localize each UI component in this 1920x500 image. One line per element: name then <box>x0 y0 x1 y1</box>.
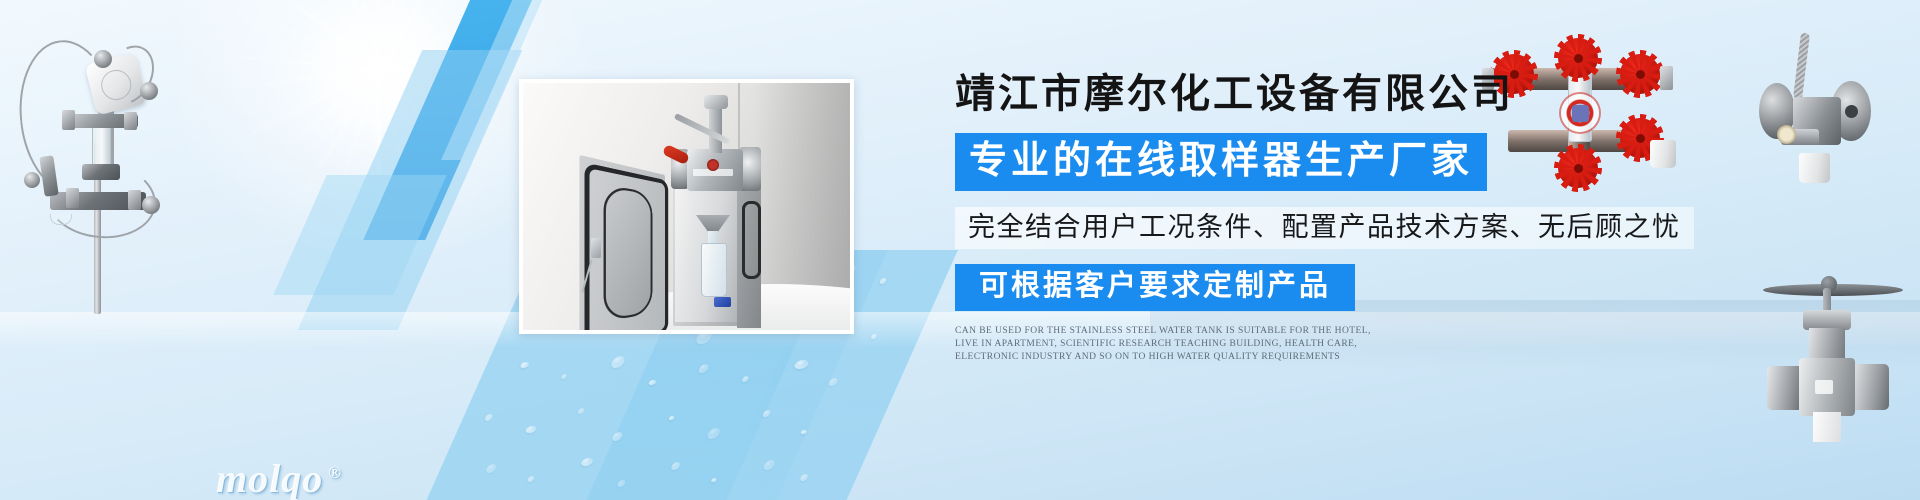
sun-ray <box>380 3 455 72</box>
water-droplet <box>524 426 537 433</box>
water-droplet <box>870 334 877 339</box>
gate-outlet-pipe <box>1813 412 1841 442</box>
company-name: 靖江市摩尔化工设备有限公司 <box>955 74 1715 114</box>
water-droplet <box>706 428 722 439</box>
sun-ray <box>278 68 380 154</box>
sun-ray <box>308 3 381 70</box>
sun-ray <box>378 70 410 196</box>
sampler-flange-c <box>142 196 160 214</box>
diagonal-stripe-soft <box>298 50 523 330</box>
water-droplet <box>560 374 567 379</box>
sun-ray <box>369 70 380 163</box>
product-photo-sampling-cabinet <box>519 79 854 334</box>
sun-ray <box>249 66 380 89</box>
sun-ray <box>380 70 504 100</box>
water-droplet <box>800 430 808 434</box>
sampler-nut-a <box>62 110 75 130</box>
sun-ray <box>243 0 382 70</box>
water-droplet <box>762 460 776 470</box>
sun-ray <box>317 0 382 70</box>
sun-ray <box>380 21 548 74</box>
sun-ray <box>380 0 449 72</box>
photo-valve-logo <box>707 159 719 171</box>
water-droplet <box>611 432 624 441</box>
photo-valve-topcap <box>704 95 728 109</box>
sampler-flange-b <box>140 82 158 100</box>
sun-ray <box>304 0 382 70</box>
sun-ray <box>353 0 384 70</box>
product-banner: 靖江市摩尔化工设备有限公司 专业的在线取样器生产厂家 完全结合用户工况条件、配置… <box>0 0 1920 500</box>
registered-trademark-icon: ® <box>328 463 342 482</box>
water-droplet <box>485 464 498 473</box>
lever-nameplate-dial <box>1777 125 1796 144</box>
sun-ray <box>292 69 380 213</box>
water-droplet <box>484 414 494 421</box>
sun-ray <box>212 54 381 70</box>
sun-ray <box>380 51 480 72</box>
sub-headline: 完全结合用户工况条件、配置产品技术方案、无后顾之忧 <box>955 207 1694 249</box>
watermark-text: molqo <box>216 456 323 500</box>
water-droplet <box>616 480 626 487</box>
water-droplet <box>793 360 810 369</box>
customization-highlight: 可根据客户要求定制产品 <box>955 264 1355 311</box>
door-window <box>604 184 653 322</box>
sun-ray <box>379 70 527 144</box>
water-droplet <box>580 458 595 466</box>
product-lever-sampling-valve <box>1757 25 1907 210</box>
sun-ray <box>380 0 497 71</box>
sampler-nut-c <box>66 188 79 208</box>
water-droplet <box>527 476 536 482</box>
headline-highlight: 专业的在线取样器生产厂家 <box>955 133 1487 191</box>
sampler-nut-b <box>124 112 137 130</box>
sample-bottle <box>701 243 727 297</box>
gate-flange-right <box>1851 364 1889 410</box>
water-droplet <box>670 462 682 470</box>
sun-ray <box>380 3 500 72</box>
water-droplet <box>879 278 888 284</box>
valve-handwheel-top <box>1558 38 1598 78</box>
lever-handle <box>1793 33 1810 100</box>
gate-flange-left <box>1767 366 1803 410</box>
english-description: CAN BE USED FOR THE STAINLESS STEEL WATE… <box>955 325 1373 364</box>
sun-ray <box>377 70 471 163</box>
sun-ray <box>337 69 380 193</box>
sampler-flange-d <box>24 172 40 188</box>
sampler-flange-a <box>94 50 112 68</box>
gate-bonnet <box>1803 310 1851 330</box>
gate-nameplate <box>1815 380 1833 394</box>
brand-watermark: molqo® <box>216 455 342 500</box>
sun-ray <box>286 50 381 70</box>
water-droplet <box>609 356 626 368</box>
lever-sample-cup <box>1799 153 1830 183</box>
banner-copy: 靖江市摩尔化工设备有限公司 专业的在线取样器生产厂家 完全结合用户工况条件、配置… <box>955 74 1715 364</box>
cabinet-handle <box>742 201 761 279</box>
water-droplet <box>799 474 809 481</box>
cabinet-lock <box>591 238 601 258</box>
water-droplet <box>827 378 839 386</box>
water-droplet <box>711 478 718 482</box>
sun-ray <box>376 70 381 236</box>
sun-ray <box>229 68 380 146</box>
sun-ray <box>380 0 409 71</box>
sun-ray <box>380 70 470 74</box>
sun-ray <box>378 70 421 153</box>
diagonal-stripe-block <box>273 175 446 295</box>
sampler-nut-d <box>128 190 141 210</box>
water-droplet <box>741 376 750 382</box>
sun-ray <box>378 70 468 211</box>
product-pole-mounted-sampler <box>6 22 186 312</box>
water-droplet <box>697 364 710 373</box>
valve-block-mid <box>82 164 120 180</box>
sun-ray <box>258 15 381 70</box>
product-gate-valve-sampler <box>1755 232 1920 422</box>
water-droplet <box>762 410 772 417</box>
water-droplet <box>519 362 530 368</box>
sun-ray <box>320 68 380 145</box>
sun-ray <box>380 0 412 70</box>
sample-bottle-cap <box>714 297 731 307</box>
water-droplet <box>648 380 657 385</box>
water-droplet <box>577 408 586 414</box>
water-droplet <box>668 416 675 420</box>
sun-ray <box>291 68 380 104</box>
sun-ray <box>379 70 457 120</box>
sun-ray <box>373 0 382 70</box>
